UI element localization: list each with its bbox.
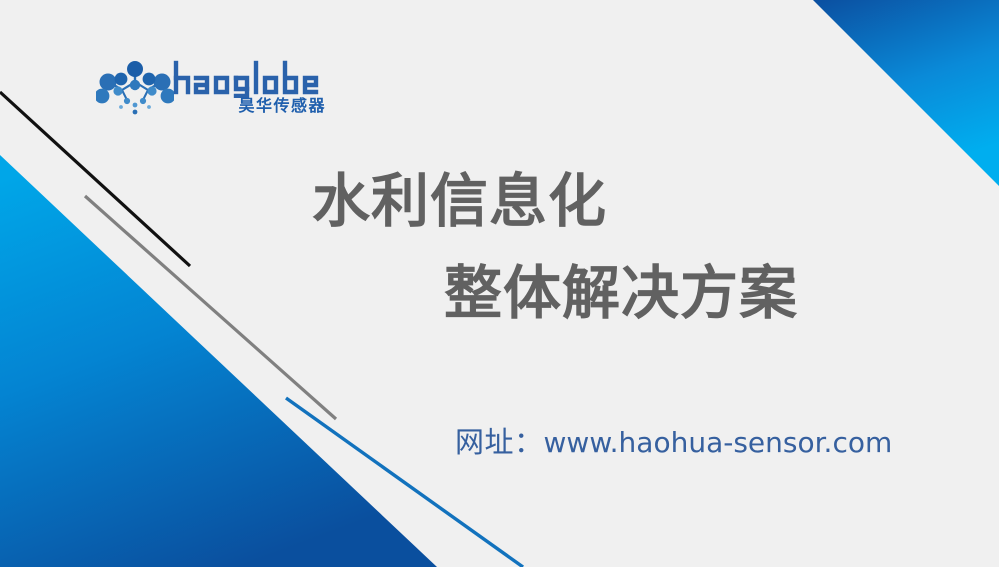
molecule-network-logo-icon <box>96 60 174 116</box>
haoglobe-wordmark <box>172 58 324 98</box>
page-title-line-2: 整体解决方案 <box>444 263 798 324</box>
website-url[interactable]: www.haohua-sensor.com <box>544 426 893 459</box>
website-label: 网址： <box>455 425 544 459</box>
page-title-line-1: 水利信息化 <box>312 171 607 232</box>
slide-canvas: 昊华传感器 水利信息化 整体解决方案 网址：www.haohua-sensor.… <box>0 0 999 567</box>
website-row: 网址：www.haohua-sensor.com <box>455 420 892 470</box>
brand-logo[interactable]: 昊华传感器 <box>96 58 326 124</box>
top-right-blue-triangle <box>813 0 999 186</box>
brand-chinese-name: 昊华传感器 <box>214 96 326 116</box>
